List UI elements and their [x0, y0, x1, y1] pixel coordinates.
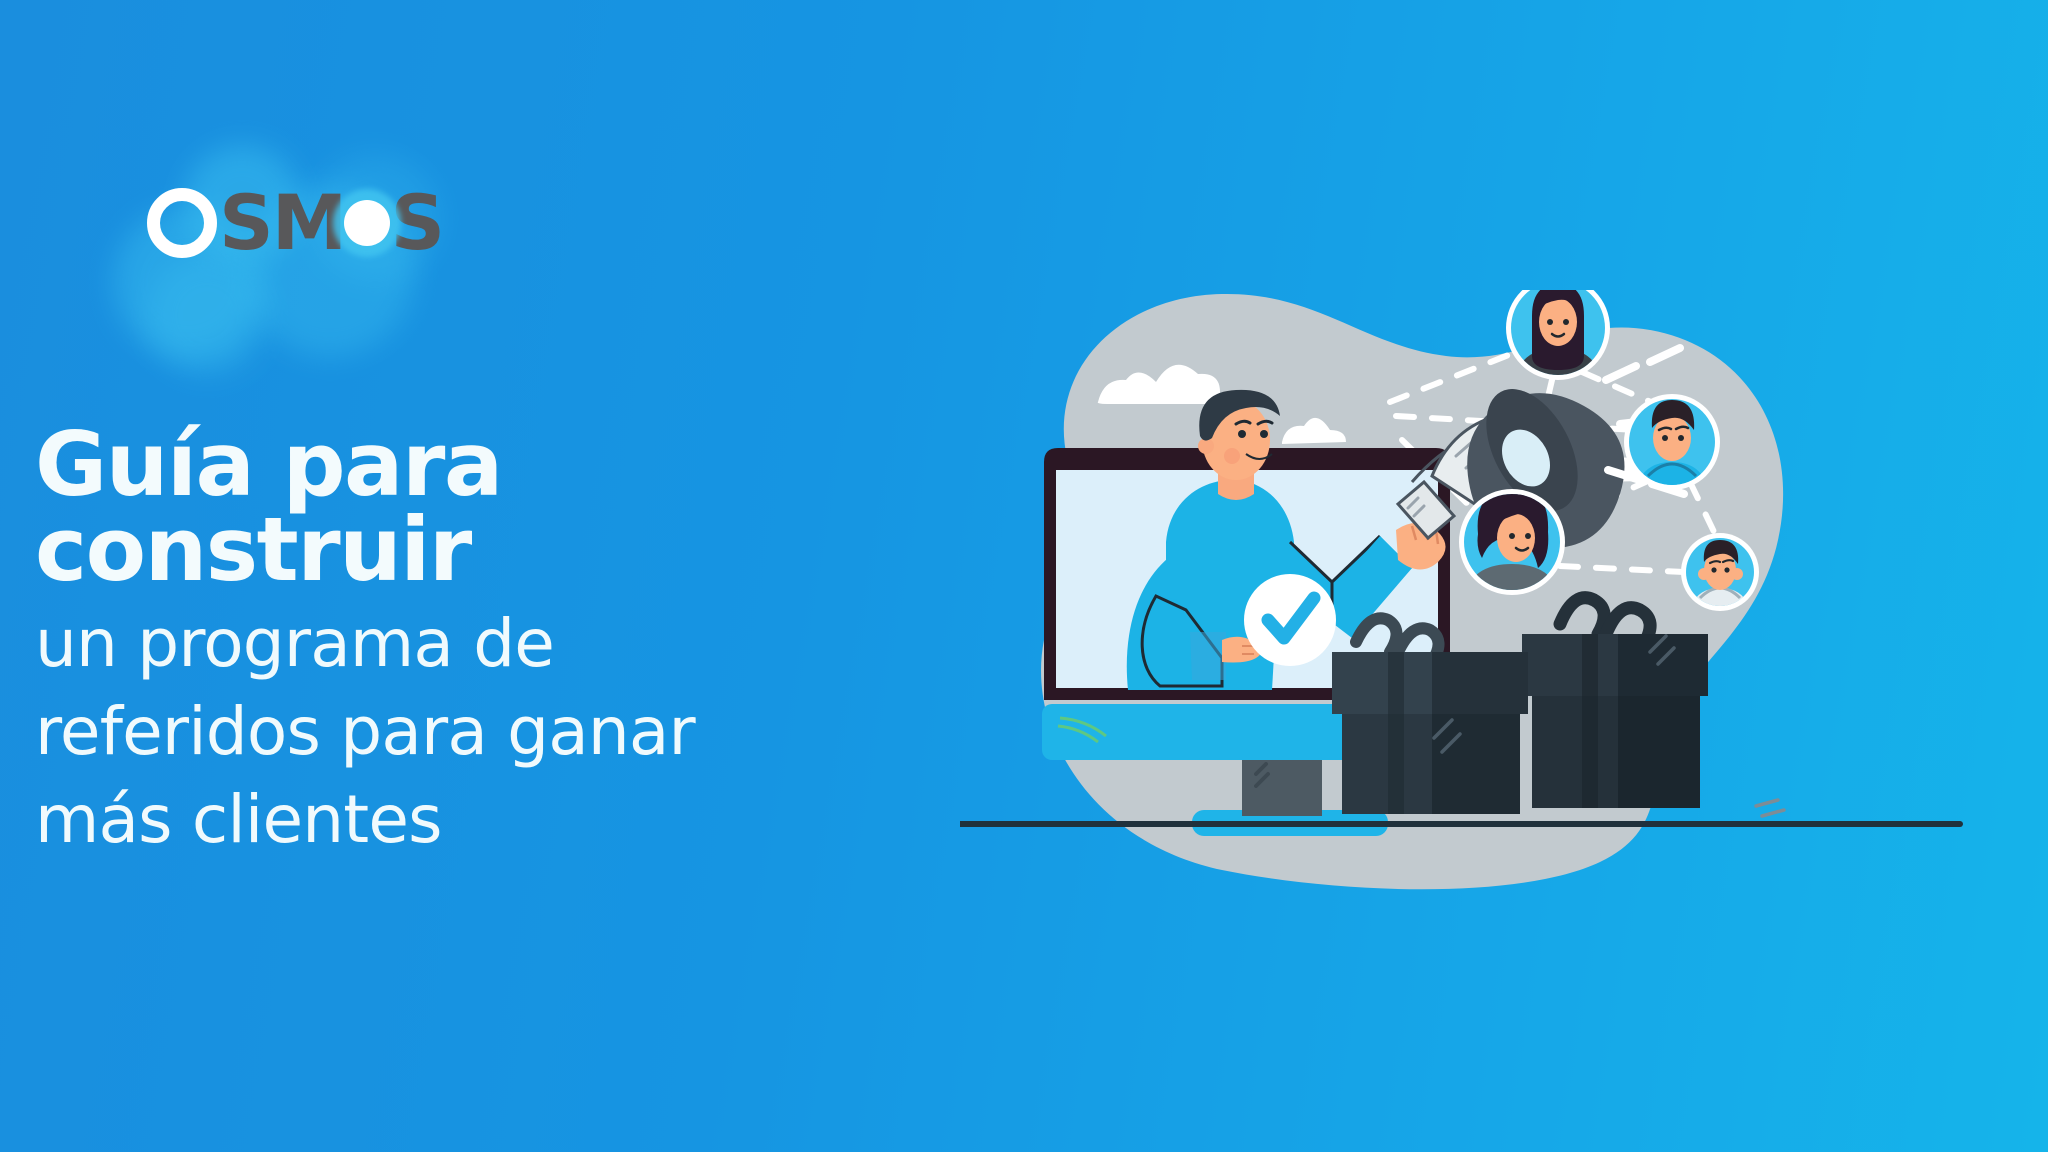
subheadline-line-2: referidos para ganar: [35, 695, 935, 769]
check-badge: [1244, 574, 1336, 666]
logo-glow-blob: [147, 255, 267, 375]
subheadline-line-3: más clientes: [35, 783, 935, 857]
logo-wordmark: SM S: [147, 175, 443, 271]
logo-letters-sm: SM: [219, 185, 345, 261]
referral-illustration: [960, 290, 2020, 950]
ground-scuff: [1756, 800, 1784, 816]
avatar-man-small[interactable]: [1681, 533, 1759, 611]
brand-logo[interactable]: SM S: [95, 135, 515, 325]
logo-o-dot-icon: [342, 198, 392, 248]
gift-ribbon: [1388, 652, 1404, 814]
gift-ribbon: [1582, 634, 1598, 808]
text-block: Guía para construir un programa de refer…: [35, 422, 935, 856]
poster-canvas: SM S Guía para construir un programa de …: [0, 0, 2048, 1152]
avatar-man-short-hair[interactable]: [1624, 394, 1720, 490]
subheadline-line-1: un programa de: [35, 607, 935, 681]
monitor-neck: [1242, 760, 1322, 816]
headline-line-1: Guía para: [35, 422, 935, 507]
headline-line-2: construir: [35, 507, 935, 592]
person-eye: [1238, 430, 1246, 438]
logo-o-ring-icon: [147, 188, 217, 258]
person-eye: [1260, 430, 1268, 438]
